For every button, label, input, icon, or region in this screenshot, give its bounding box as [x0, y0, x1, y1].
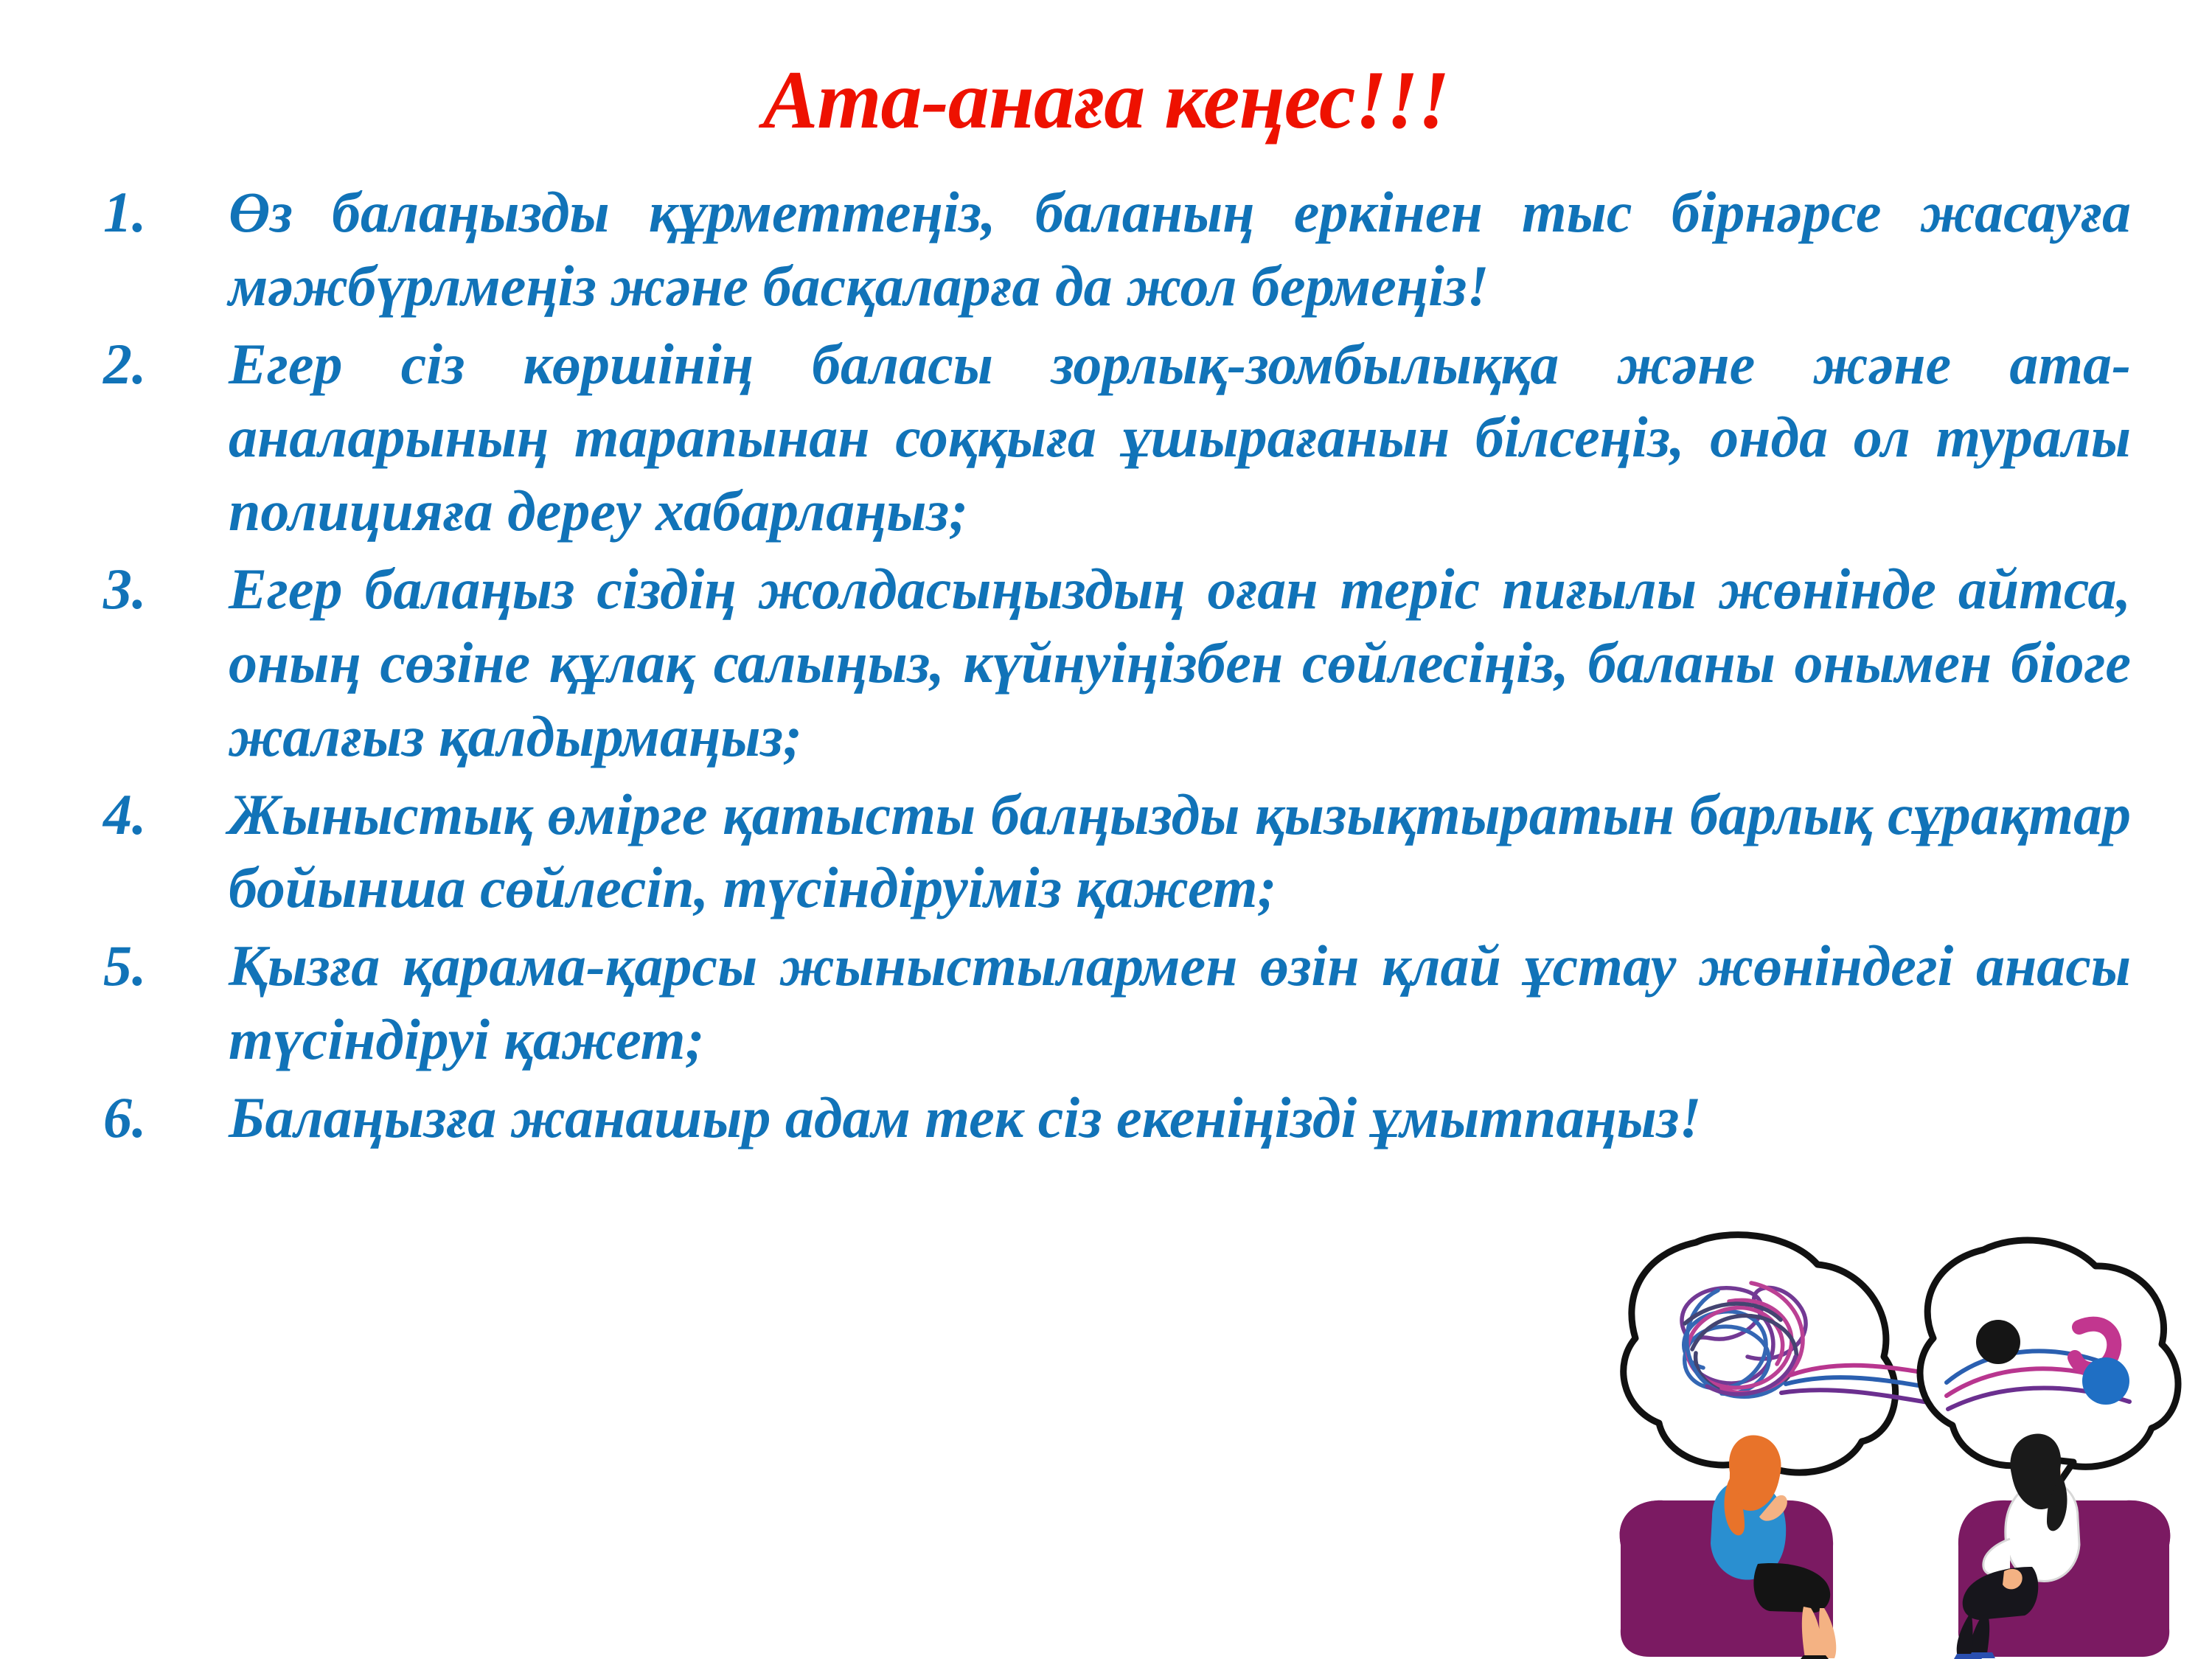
- advice-list: 1. Өз балаңызды құрметтеңіз, баланың ерк…: [0, 175, 2212, 1159]
- list-item-number: 1.: [103, 175, 192, 249]
- list-item-number: 5.: [103, 929, 192, 1003]
- right-person-in-armchair: [1954, 1433, 2170, 1659]
- list-item: 5. Қызға қарама-қарсы жыныстылармен өзін…: [0, 929, 2212, 1077]
- list-item: 6. Балаңызға жанашыр адам тек сіз екенің…: [0, 1081, 2212, 1155]
- list-item-number: 6.: [103, 1081, 192, 1155]
- thought-bubble-resolved-icon: [1920, 1240, 2178, 1509]
- list-item: 3. Егер балаңыз сіздің жолдасыңыздың оға…: [0, 552, 2212, 773]
- list-item-number: 4.: [103, 778, 192, 852]
- page-title: Ата-анаға кеңес!!!: [0, 58, 2212, 145]
- list-item-number: 2.: [103, 327, 192, 401]
- list-item-text: Егер балаңыз сіздің жолдасыңыздың оған т…: [229, 552, 2131, 773]
- slide-canvas: Ата-анаға кеңес!!! 1. Өз балаңызды құрме…: [0, 0, 2212, 1659]
- list-item: 1. Өз балаңызды құрметтеңіз, баланың ерк…: [0, 175, 2212, 323]
- list-item-text: Өз балаңызды құрметтеңіз, баланың еркіне…: [229, 175, 2131, 323]
- list-item-text: Егер сіз көршінің баласы зорлық-зомбылық…: [229, 327, 2131, 548]
- list-item-text: Жыныстық өмірге қатысты балңызды қызықты…: [229, 778, 2131, 925]
- thought-bubble-tangled-icon: [1624, 1235, 1896, 1508]
- list-item-number: 3.: [103, 552, 192, 626]
- list-item-text: Балаңызға жанашыр адам тек сіз екеніңізд…: [229, 1081, 2131, 1155]
- left-person-in-armchair: [1620, 1435, 1837, 1659]
- list-item-text: Қызға қарама-қарсы жыныстылармен өзін қл…: [229, 929, 2131, 1077]
- illustration-two-people-talking: [1600, 1198, 2190, 1659]
- list-item: 4. Жыныстық өмірге қатысты балңызды қызы…: [0, 778, 2212, 925]
- list-item: 2. Егер сіз көршінің баласы зорлық-зомбы…: [0, 327, 2212, 548]
